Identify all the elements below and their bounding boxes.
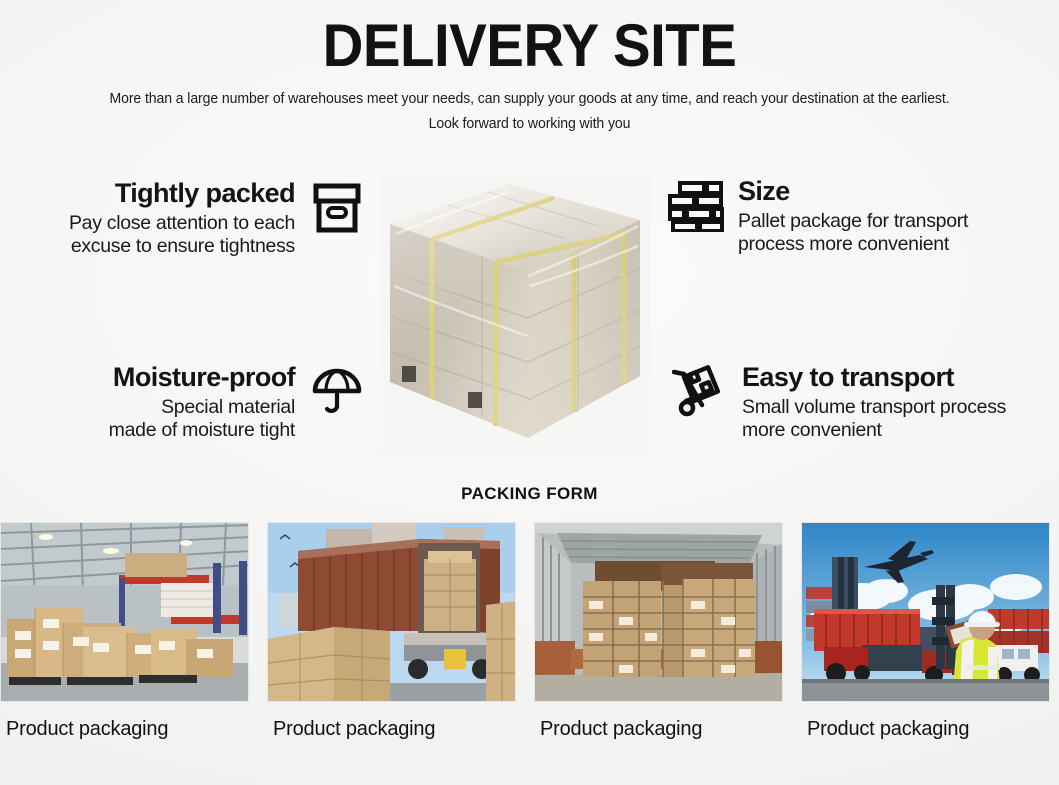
packing-form-label: PACKING FORM xyxy=(0,484,1059,504)
container-loading-photo[interactable] xyxy=(267,522,516,702)
header: DELIVERY SITE More than a large number o… xyxy=(0,14,1059,132)
feature-size-desc-line-1: Pallet package for transport xyxy=(738,210,968,233)
feature-moisture-proof-desc: Special material made of moisture tight xyxy=(109,396,295,443)
feature-easy-to-transport-texts: Easy to transport Small volume transport… xyxy=(742,362,1006,443)
gallery-card-2[interactable]: Product packaging xyxy=(267,522,516,741)
feature-moisture-proof-desc-line-2: made of moisture tight xyxy=(109,419,295,442)
feature-moisture-proof-texts: Moisture-proof Special material made of … xyxy=(109,362,295,443)
umbrella-icon xyxy=(309,362,365,422)
wrapped-pallet-photo xyxy=(378,176,650,456)
gallery-caption-4: Product packaging xyxy=(801,718,1050,741)
feature-moisture-proof-desc-line-1: Special material xyxy=(109,396,295,419)
warehouse-photo[interactable] xyxy=(0,522,249,702)
feature-size: Size Pallet package for transport proces… xyxy=(668,176,1059,257)
header-subtitle-line-1: More than a large number of warehouses m… xyxy=(16,91,1043,107)
feature-moisture-proof: Moisture-proof Special material made of … xyxy=(0,362,365,443)
feature-tightly-packed-desc: Pay close attention to each excuse to en… xyxy=(69,212,295,259)
feature-tightly-packed: Tightly packed Pay close attention to ea… xyxy=(0,178,365,259)
page-title: DELIVERY SITE xyxy=(32,14,1027,77)
gallery-card-1[interactable]: Product packaging xyxy=(0,522,249,741)
poster-root: DELIVERY SITE More than a large number o… xyxy=(0,0,1059,785)
feature-easy-to-transport-desc-line-1: Small volume transport process xyxy=(742,396,1006,419)
gallery-card-4[interactable]: Product packaging xyxy=(801,522,1050,741)
feature-tightly-packed-desc-line-2: excuse to ensure tightness xyxy=(69,235,295,258)
container-interior-photo[interactable] xyxy=(534,522,783,702)
logistics-yard-photo[interactable] xyxy=(801,522,1050,702)
feature-size-desc: Pallet package for transport process mor… xyxy=(738,210,968,257)
gallery-caption-1: Product packaging xyxy=(0,718,249,741)
archive-box-icon xyxy=(309,178,365,238)
gallery-caption-3: Product packaging xyxy=(534,718,783,741)
feature-tightly-packed-desc-line-1: Pay close attention to each xyxy=(69,212,295,235)
feature-easy-to-transport: Easy to transport Small volume transport… xyxy=(672,362,1059,443)
brick-wall-icon xyxy=(668,176,724,236)
feature-moisture-proof-title: Moisture-proof xyxy=(113,362,295,393)
feature-easy-to-transport-title: Easy to transport xyxy=(742,362,954,393)
feature-tightly-packed-texts: Tightly packed Pay close attention to ea… xyxy=(69,178,295,259)
gallery: Product packaging xyxy=(0,522,1059,741)
hand-truck-icon xyxy=(672,362,728,422)
gallery-caption-2: Product packaging xyxy=(267,718,516,741)
header-subtitle-line-2: Look forward to working with you xyxy=(16,116,1043,132)
gallery-card-3[interactable]: Product packaging xyxy=(534,522,783,741)
feature-easy-to-transport-desc-line-2: more convenient xyxy=(742,419,1006,442)
feature-tightly-packed-title: Tightly packed xyxy=(115,178,295,209)
feature-size-desc-line-2: process more convenient xyxy=(738,233,968,256)
feature-size-title: Size xyxy=(738,176,790,207)
feature-size-texts: Size Pallet package for transport proces… xyxy=(738,176,968,257)
feature-easy-to-transport-desc: Small volume transport process more conv… xyxy=(742,396,1006,443)
